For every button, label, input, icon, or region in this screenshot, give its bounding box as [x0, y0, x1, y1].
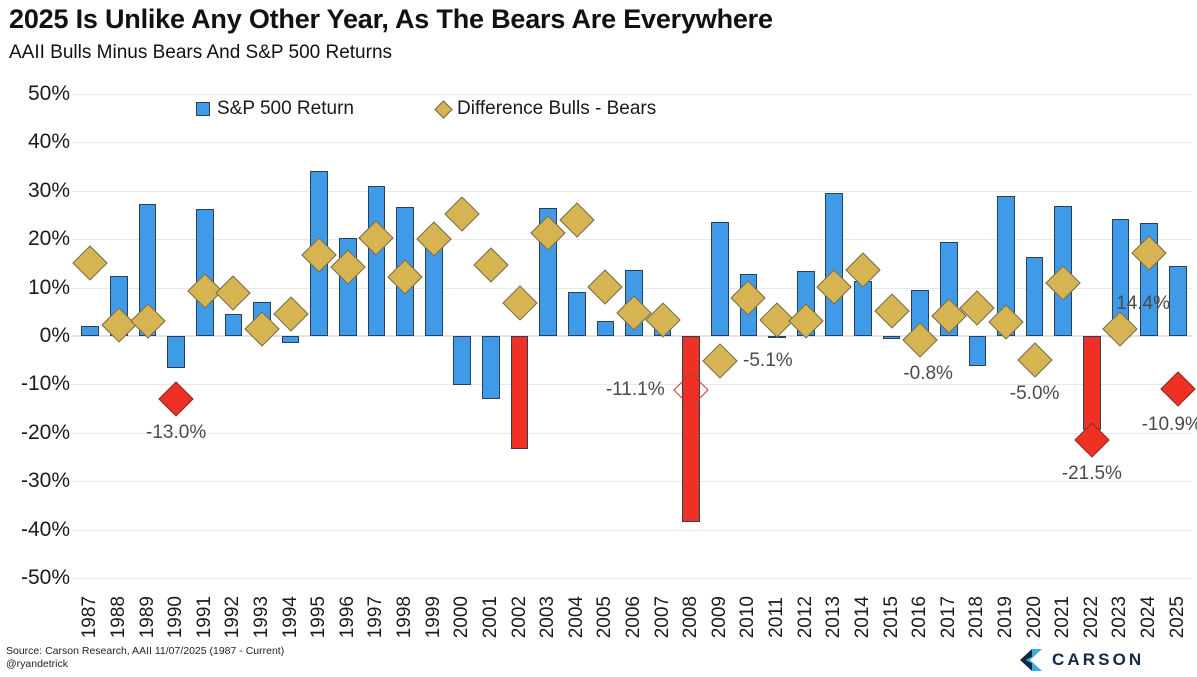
diamond-2017 — [931, 298, 966, 333]
x-axis-tick-2004: 2004 — [562, 576, 591, 638]
diamond-2022 — [1074, 422, 1109, 457]
legend-item-bulls-bears: Difference Bulls - Bears — [437, 98, 656, 120]
page-subtitle: AAII Bulls Minus Bears And S&P 500 Retur… — [9, 42, 392, 64]
x-axis-tick-2024: 2024 — [1135, 576, 1164, 638]
diamond-1990 — [158, 381, 193, 416]
x-axis-tick-1993: 1993 — [248, 576, 277, 638]
x-axis-tick-label: 2024 — [1138, 596, 1160, 638]
data-label-2016: -0.8% — [903, 363, 953, 385]
source-line-1: Source: Carson Research, AAII 11/07/2025… — [6, 645, 284, 658]
diamond-1993 — [244, 311, 279, 346]
bar-1997 — [368, 186, 386, 336]
legend-square-icon — [196, 102, 210, 116]
data-label-2020: -5.0% — [1010, 383, 1060, 405]
x-axis-tick-label: 2018 — [966, 596, 988, 638]
x-axis-tick-label: 1992 — [222, 596, 244, 638]
data-label-2009: -5.1% — [743, 350, 793, 372]
data-label-2022: -21.5% — [1062, 463, 1122, 485]
x-axis-tick-label: 2013 — [823, 596, 845, 638]
bar-1992 — [225, 314, 243, 336]
x-axis-tick-2018: 2018 — [963, 576, 992, 638]
bar-2009 — [711, 222, 729, 336]
x-axis-tick-2013: 2013 — [820, 576, 849, 638]
bar-2022 — [1083, 336, 1101, 430]
x-axis-tick-label: 2000 — [451, 596, 473, 638]
x-axis-tick-label: 2022 — [1081, 596, 1103, 638]
x-axis-tick-label: 2001 — [480, 596, 502, 638]
diamond-2002 — [502, 285, 537, 320]
gridline — [72, 191, 1192, 192]
x-axis-tick-label: 1999 — [423, 596, 445, 638]
diamond-2021 — [1046, 266, 1081, 301]
y-axis-tick-label: 40% — [8, 130, 70, 154]
legend-label-sp500: S&P 500 Return — [217, 98, 354, 120]
bar-2002 — [511, 336, 529, 449]
x-axis-tick-1998: 1998 — [391, 576, 420, 638]
x-axis-tick-2008: 2008 — [677, 576, 706, 638]
gridline — [72, 142, 1192, 143]
bar-1987 — [81, 326, 99, 336]
bar-2020 — [1026, 257, 1044, 336]
x-axis-tick-2023: 2023 — [1106, 576, 1135, 638]
x-axis-tick-label: 2009 — [709, 596, 731, 638]
x-axis-tick-label: 2023 — [1109, 596, 1131, 638]
x-axis-tick-2015: 2015 — [877, 576, 906, 638]
diamond-1992 — [216, 276, 251, 311]
x-axis-tick-2001: 2001 — [477, 576, 506, 638]
x-axis-tick-2011: 2011 — [763, 576, 792, 638]
carson-mark-icon — [1018, 648, 1043, 672]
diamond-1998 — [387, 259, 422, 294]
gridline — [72, 530, 1192, 531]
x-axis-tick-1997: 1997 — [362, 576, 391, 638]
y-axis-tick-label: -20% — [8, 421, 70, 445]
x-axis-tick-label: 2016 — [909, 596, 931, 638]
x-axis: 1987198819891990199119921993199419951996… — [0, 576, 1197, 638]
diamond-2001 — [473, 248, 508, 283]
x-axis-tick-label: 2003 — [537, 596, 559, 638]
x-axis-tick-2020: 2020 — [1020, 576, 1049, 638]
carson-wordmark: CARSON — [1052, 650, 1144, 670]
diamond-2010 — [731, 281, 766, 316]
x-axis-tick-label: 1991 — [194, 596, 216, 638]
legend-item-sp500: S&P 500 Return — [196, 98, 354, 120]
x-axis-tick-label: 2006 — [623, 596, 645, 638]
x-axis-tick-2017: 2017 — [934, 576, 963, 638]
bar-2013 — [825, 193, 843, 336]
x-axis-tick-label: 1989 — [137, 596, 159, 638]
x-axis-tick-2021: 2021 — [1049, 576, 1078, 638]
x-axis-tick-label: 2017 — [938, 596, 960, 638]
x-axis-tick-2009: 2009 — [706, 576, 735, 638]
diamond-2006 — [616, 295, 651, 330]
x-axis-tick-2012: 2012 — [791, 576, 820, 638]
page-title: 2025 Is Unlike Any Other Year, As The Be… — [9, 4, 773, 35]
diamond-1999 — [416, 221, 451, 256]
diamond-2016 — [902, 322, 937, 357]
x-axis-tick-1990: 1990 — [162, 576, 191, 638]
diamond-2013 — [817, 269, 852, 304]
diamond-2005 — [588, 269, 623, 304]
x-axis-tick-2022: 2022 — [1078, 576, 1107, 638]
x-axis-tick-label: 2020 — [1024, 596, 1046, 638]
diamond-1987 — [73, 246, 108, 281]
gridline — [72, 239, 1192, 240]
x-axis-tick-label: 2015 — [881, 596, 903, 638]
diamond-2015 — [874, 293, 909, 328]
bar-2025 — [1169, 266, 1187, 336]
gridline — [72, 481, 1192, 482]
bar-1990 — [167, 336, 185, 368]
x-axis-tick-label: 1997 — [365, 596, 387, 638]
legend-label-bulls-bears: Difference Bulls - Bears — [457, 98, 656, 120]
bar-1994 — [282, 336, 300, 343]
x-axis-tick-1996: 1996 — [334, 576, 363, 638]
x-axis-tick-label: 2005 — [594, 596, 616, 638]
diamond-2025 — [1160, 371, 1195, 406]
diamond-2000 — [445, 196, 480, 231]
x-axis-tick-2000: 2000 — [448, 576, 477, 638]
x-axis-tick-2005: 2005 — [591, 576, 620, 638]
source-line-2: @ryandetrick — [6, 658, 284, 671]
bar-2008 — [682, 336, 700, 522]
x-axis-tick-label: 2008 — [680, 596, 702, 638]
x-axis-tick-label: 1987 — [79, 596, 101, 638]
x-axis-tick-label: 2002 — [509, 596, 531, 638]
diamond-2009 — [702, 343, 737, 378]
data-label-2024: 14.4% — [1116, 293, 1170, 315]
x-axis-tick-1989: 1989 — [133, 576, 162, 638]
x-axis-tick-2016: 2016 — [906, 576, 935, 638]
carson-logo: CARSON — [1018, 648, 1144, 672]
x-axis-tick-label: 2004 — [566, 596, 588, 638]
x-axis-tick-label: 2011 — [766, 597, 788, 638]
x-axis-tick-label: 1995 — [308, 596, 330, 638]
bar-2001 — [482, 336, 500, 399]
bar-2005 — [597, 321, 615, 336]
x-axis-tick-2014: 2014 — [849, 576, 878, 638]
diamond-1989 — [130, 304, 165, 339]
x-axis-tick-label: 2012 — [795, 596, 817, 638]
x-axis-tick-2003: 2003 — [534, 576, 563, 638]
bar-2004 — [568, 292, 586, 336]
bar-2018 — [969, 336, 987, 366]
y-axis-tick-label: -40% — [8, 518, 70, 542]
diamond-2008 — [674, 372, 709, 407]
diamond-2023 — [1103, 311, 1138, 346]
y-axis-tick-label: 20% — [8, 227, 70, 251]
x-axis-tick-1988: 1988 — [105, 576, 134, 638]
x-axis-tick-label: 2014 — [852, 596, 874, 638]
gridline — [72, 94, 1192, 95]
x-axis-tick-1992: 1992 — [219, 576, 248, 638]
diamond-1997 — [359, 220, 394, 255]
x-axis-tick-label: 1996 — [337, 596, 359, 638]
data-label-1990: -13.0% — [146, 422, 206, 444]
diamond-1988 — [101, 308, 136, 343]
x-axis-tick-label: 2010 — [737, 596, 759, 638]
x-axis-tick-label: 1988 — [108, 596, 130, 638]
source-note: Source: Carson Research, AAII 11/07/2025… — [6, 645, 284, 671]
y-axis-tick-label: -10% — [8, 372, 70, 396]
y-axis-tick-label: -30% — [8, 469, 70, 493]
x-axis-tick-label: 1998 — [394, 596, 416, 638]
y-axis-tick-label: 30% — [8, 179, 70, 203]
x-axis-tick-label: 2019 — [995, 596, 1017, 638]
gridline — [72, 433, 1192, 434]
x-axis-tick-label: 1994 — [280, 596, 302, 638]
x-axis-tick-1995: 1995 — [305, 576, 334, 638]
diamond-2020 — [1017, 343, 1052, 378]
x-axis-tick-1991: 1991 — [190, 576, 219, 638]
x-axis-tick-2007: 2007 — [648, 576, 677, 638]
x-axis-tick-2002: 2002 — [505, 576, 534, 638]
x-axis-tick-label: 1990 — [165, 596, 187, 638]
x-axis-tick-1994: 1994 — [276, 576, 305, 638]
legend-diamond-icon — [434, 100, 452, 118]
data-label-2008: -11.1% — [606, 379, 665, 401]
diamond-2024 — [1131, 235, 1166, 270]
x-axis-tick-2025: 2025 — [1163, 576, 1192, 638]
x-axis-tick-label: 2025 — [1167, 596, 1189, 638]
x-axis-tick-2010: 2010 — [734, 576, 763, 638]
x-axis-tick-1987: 1987 — [76, 576, 105, 638]
diamond-2007 — [645, 302, 680, 337]
data-label-2025: -10.9% — [1142, 414, 1197, 436]
y-axis-tick-label: 10% — [8, 276, 70, 300]
y-axis-tick-label: 0% — [8, 324, 70, 348]
x-axis-tick-2006: 2006 — [620, 576, 649, 638]
chart-legend: S&P 500 Return Difference Bulls - Bears — [0, 98, 1197, 126]
diamond-2014 — [845, 252, 880, 287]
x-axis-tick-1999: 1999 — [419, 576, 448, 638]
bar-2015 — [883, 336, 901, 339]
chart-plot-area: 50%40%30%20%10%0%-10%-20%-30%-40%-50%-13… — [0, 80, 1197, 580]
x-axis-tick-label: 2021 — [1052, 596, 1074, 638]
diamond-2012 — [788, 303, 823, 338]
bar-2014 — [854, 281, 872, 336]
x-axis-tick-label: 1993 — [251, 596, 273, 638]
x-axis-tick-label: 2007 — [652, 596, 674, 638]
bar-2000 — [453, 336, 471, 385]
x-axis-tick-2019: 2019 — [992, 576, 1021, 638]
